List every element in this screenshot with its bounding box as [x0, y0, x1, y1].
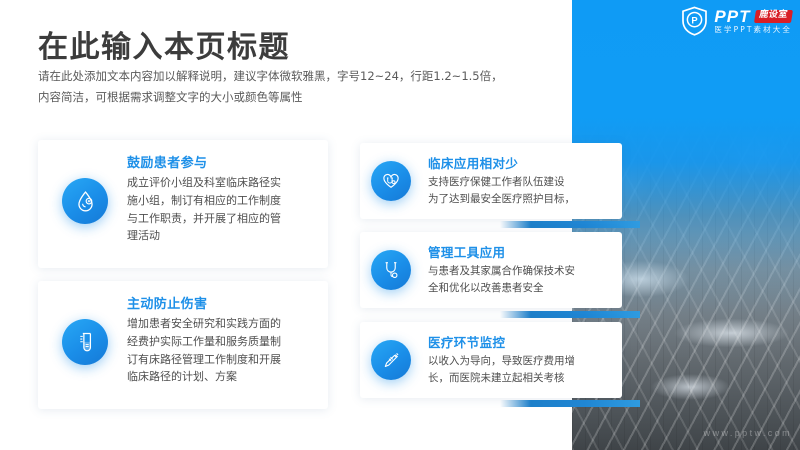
card-body-line: 增加患者安全研究和实践方面的 — [127, 315, 327, 333]
card-connector-bar — [500, 400, 640, 407]
brand-logo[interactable]: P PPT 鹿设室 医学PPT素材大全 — [681, 6, 792, 36]
card-title: 临床应用相对少 — [428, 153, 518, 172]
card-inner: 管理工具应用 与患者及其家属合作确保技术安 全和优化以改善患者安全 — [360, 232, 622, 308]
card-body: 增加患者安全研究和实践方面的 经费护实际工作量和服务质量制 订有床路径管理工作制… — [127, 315, 327, 386]
logo-badge: 鹿设室 — [754, 10, 793, 23]
subtitle-line: 请在此处添加文本内容加以解释说明，建议字体微软雅黑，字号12~24，行距1.2~… — [38, 66, 558, 87]
card-body-line: 支持医疗保健工作者队伍建设 — [428, 174, 575, 191]
logo-text-block: PPT 鹿设室 医学PPT素材大全 — [714, 8, 792, 34]
page-subtitle: 请在此处添加文本内容加以解释说明，建议字体微软雅黑，字号12~24，行距1.2~… — [38, 66, 558, 109]
svg-text:P: P — [692, 15, 698, 26]
card-body-line: 为了达到最安全医疗照护目标， — [428, 191, 575, 208]
card-body-line: 长，而医院未建立起相关考核 — [428, 370, 575, 387]
test-tube-icon — [62, 319, 108, 365]
card-title: 管理工具应用 — [428, 242, 505, 261]
logo-primary-row: PPT 鹿设室 — [714, 8, 792, 25]
content-card-management-tools[interactable]: 管理工具应用 与患者及其家属合作确保技术安 全和优化以改善患者安全 — [360, 232, 622, 308]
content-card-prevent-harm[interactable]: 主动防止伤害 增加患者安全研究和实践方面的 经费护实际工作量和服务质量制 订有床… — [38, 281, 328, 409]
page-title: 在此输入本页标题 — [38, 22, 290, 66]
card-body: 以收入为导向，导致医疗费用增 长，而医院未建立起相关考核 — [428, 353, 575, 386]
logo-brand-text: PPT — [714, 8, 750, 25]
card-body-line: 以收入为导向，导致医疗费用增 — [428, 353, 575, 370]
card-connector-bar — [500, 311, 640, 318]
card-inner: 主动防止伤害 增加患者安全研究和实践方面的 经费护实际工作量和服务质量制 订有床… — [38, 281, 328, 409]
card-body: 成立评价小组及科室临床路径实 施小组，制订有相应的工作制度 与工作职责，并开展了… — [127, 174, 327, 245]
slide-root: www.pptw.com P PPT 鹿设室 医学PPT素材大全 在此输入本页标… — [0, 0, 800, 450]
card-inner: 医疗环节监控 以收入为导向，导致医疗费用增 长，而医院未建立起相关考核 — [360, 322, 622, 398]
card-body-line: 理活动 — [127, 227, 327, 245]
card-title: 医疗环节监控 — [428, 332, 505, 351]
card-body-line: 施小组，制订有相应的工作制度 — [127, 192, 327, 210]
card-body-line: 经费护实际工作量和服务质量制 — [127, 333, 327, 351]
heart-stethoscope-icon — [371, 161, 411, 201]
card-body: 与患者及其家属合作确保技术安 全和优化以改善患者安全 — [428, 263, 575, 296]
logo-tagline: 医学PPT素材大全 — [714, 26, 792, 34]
card-title: 鼓励患者参与 — [127, 152, 207, 171]
card-body-line: 成立评价小组及科室临床路径实 — [127, 174, 327, 192]
card-body-line: 临床路径的计划、方案 — [127, 368, 327, 386]
card-body: 支持医疗保健工作者队伍建设 为了达到最安全医疗照护目标， — [428, 174, 575, 207]
card-body-line: 与患者及其家属合作确保技术安 — [428, 263, 575, 280]
stethoscope-icon — [371, 250, 411, 290]
content-card-clinical-application[interactable]: 临床应用相对少 支持医疗保健工作者队伍建设 为了达到最安全医疗照护目标， — [360, 143, 622, 219]
watermark-text: www.pptw.com — [704, 428, 792, 438]
card-body-line: 订有床路径管理工作制度和开展 — [127, 351, 327, 369]
card-body-line: 与工作职责，并开展了相应的管 — [127, 210, 327, 228]
syringe-icon — [371, 340, 411, 380]
water-drop-icon — [62, 178, 108, 224]
content-card-process-monitoring[interactable]: 医疗环节监控 以收入为导向，导致医疗费用增 长，而医院未建立起相关考核 — [360, 322, 622, 398]
card-inner: 临床应用相对少 支持医疗保健工作者队伍建设 为了达到最安全医疗照护目标， — [360, 143, 622, 219]
content-card-encourage-patient[interactable]: 鼓励患者参与 成立评价小组及科室临床路径实 施小组，制订有相应的工作制度 与工作… — [38, 140, 328, 268]
card-body-line: 全和优化以改善患者安全 — [428, 280, 575, 297]
card-title: 主动防止伤害 — [127, 293, 207, 312]
card-inner: 鼓励患者参与 成立评价小组及科室临床路径实 施小组，制订有相应的工作制度 与工作… — [38, 140, 328, 268]
subtitle-line: 内容简洁，可根据需求调整文字的大小或颜色等属性 — [38, 87, 558, 108]
shield-p-icon: P — [681, 6, 708, 36]
card-connector-bar — [500, 221, 640, 228]
